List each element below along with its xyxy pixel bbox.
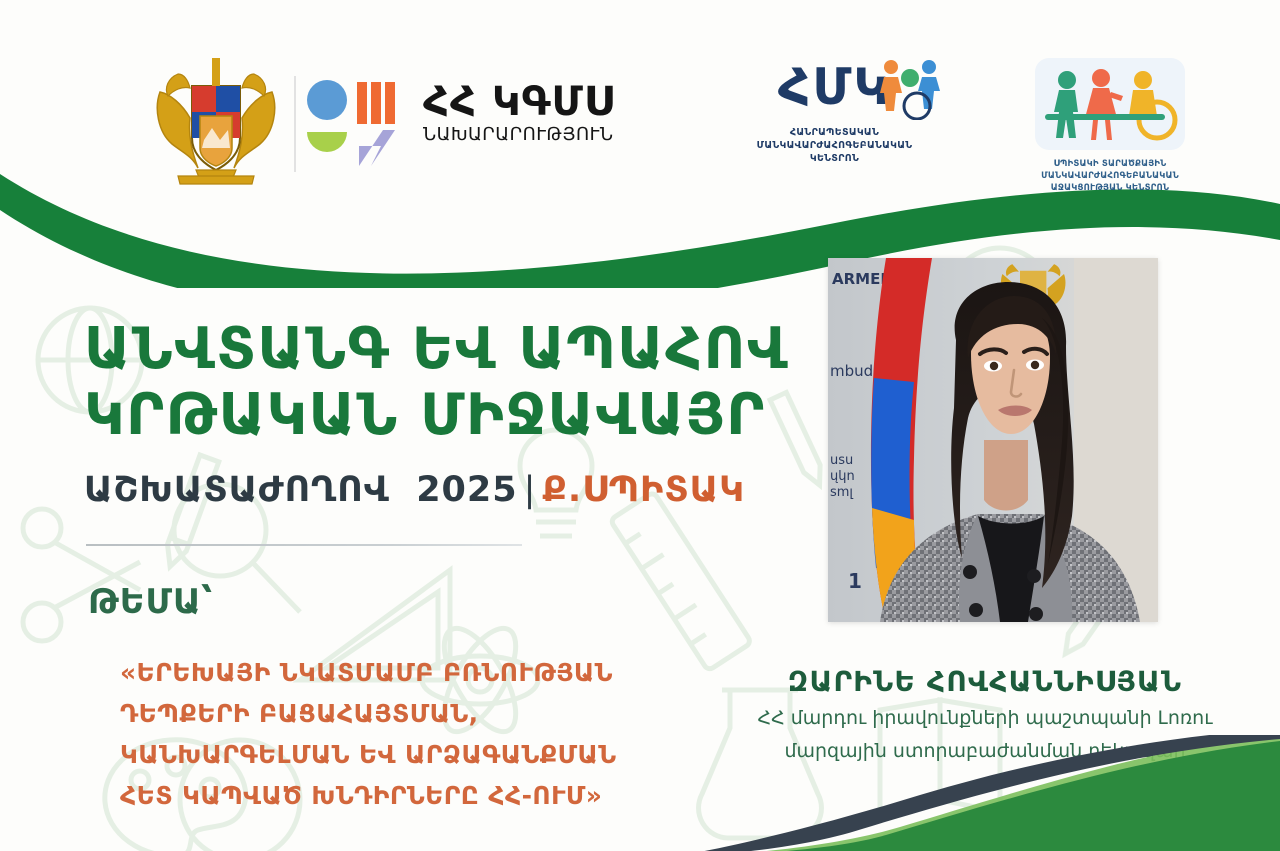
spitak-center-logo: ՍՊԻՏԱԿԻ ՏԱՐԱԾՔԱՅԻՆ ՄԱՆԿԱՎԱՐԺԱՀՈԳԵԲԱՆԱԿԱՆ… xyxy=(1010,58,1210,208)
event-year: 2025 xyxy=(416,470,517,510)
spitak-line3: ԱՋԱԿՑՈՒԹՅԱՆ ԿԵՆՏՐՈՆ xyxy=(1010,182,1210,194)
headline-block: ԱՆՎՏԱՆԳ ԵՎ ԱՊԱՀՈՎ ԿՐԹԱԿԱՆ ՄԻՋԱՎԱՅՐ xyxy=(84,316,784,448)
svg-text:smլ: smլ xyxy=(830,485,853,500)
event-city: Ք.ՍՊԻՏԱԿ xyxy=(542,470,745,510)
svg-text:ųկn: ųկn xyxy=(830,469,855,484)
speaker-role-line-1: ՀՀ մարդու իրավունքների պաշտպանի Լոռու xyxy=(700,704,1270,733)
theme-line: «ԵՐԵԽԱՅԻ ՆԿԱՏՄԱՄԲ ԲՌՆՈՒԹՅԱՆ xyxy=(120,652,720,693)
ministry-acronym: ՀՀ ԿԳՄՍ xyxy=(423,80,638,124)
event-type-label: ԱՇԽԱՏԱԺՈՂՈՎ xyxy=(84,470,390,510)
headline-line-2: ԿՐԹԱԿԱՆ ՄԻՋԱՎԱՅՐ xyxy=(84,382,784,448)
logo-divider xyxy=(294,76,296,172)
hmk-line1: ՀԱՆՐԱՊԵՏԱԿԱՆ xyxy=(722,126,947,139)
ministry-logo: ՀՀ ԿԳՄՍ ՆԱԽԱՐԱՐՈՒԹՅՈՒՆ xyxy=(305,74,635,178)
ministry-word: ՆԱԽԱՐԱՐՈՒԹՅՈՒՆ xyxy=(423,124,638,146)
speaker-portrait: ARMENI mbud usu ųկn smլ 1 xyxy=(828,258,1158,622)
poster-canvas: ՀՀ ԿԳՄՍ ՆԱԽԱՐԱՐՈՒԹՅՈՒՆ ՀՄԿ ՀԱՆՐԱՊԵՏԱԿԱՆ xyxy=(0,0,1280,851)
svg-text:usu: usu xyxy=(830,453,853,468)
hmk-acronym: ՀՄԿ xyxy=(778,58,891,116)
three-children-bench-icon xyxy=(1035,58,1185,150)
bottom-swoosh-decoration xyxy=(600,735,1280,851)
theme-label: ԹԵՄԱ՝ xyxy=(88,582,213,622)
spitak-line2: ՄԱՆԿԱՎԱՐԺԱՀՈԳԵԲԱՆԱԿԱՆ xyxy=(1010,170,1210,182)
hmk-logo: ՀՄԿ ՀԱՆՐԱՊԵՏԱԿԱՆ ՄԱՆԿԱՎԱՐԺԱՀՈԳԵԲԱՆԱԿԱՆ Կ… xyxy=(722,58,947,188)
section-divider xyxy=(86,544,522,546)
speaker-name: ԶԱՐԻՆԵ ՀՈՎՀԱՆՆԻՍՅԱՆ xyxy=(700,664,1270,700)
kgms-blocks-mark xyxy=(305,80,413,166)
subheading-line: ԱՇԽԱՏԱԺՈՂՈՎ 2025|Ք.ՍՊԻՏԱԿ xyxy=(84,470,745,510)
armenia-coat-of-arms-icon xyxy=(152,52,280,190)
people-handshake-wheelchair-icon xyxy=(879,58,941,120)
hmk-line2: ՄԱՆԿԱՎԱՐԺԱՀՈԳԵԲԱՆԱԿԱՆ xyxy=(722,139,947,152)
svg-text:mbud: mbud xyxy=(830,362,873,380)
hmk-line3: ԿԵՆՏՐՈՆ xyxy=(722,152,947,165)
headline-line-1: ԱՆՎՏԱՆԳ ԵՎ ԱՊԱՀՈՎ xyxy=(84,316,784,382)
svg-text:1: 1 xyxy=(848,569,862,593)
subheading-separator: | xyxy=(518,470,543,510)
logo-band: ՀՀ ԿԳՄՍ ՆԱԽԱՐԱՐՈՒԹՅՈՒՆ ՀՄԿ ՀԱՆՐԱՊԵՏԱԿԱՆ xyxy=(0,28,1280,188)
theme-line: ԴԵՊՔԵՐԻ ԲԱՑԱՀԱՅՏՄԱՆ, xyxy=(120,693,720,734)
spitak-line1: ՍՊԻՏԱԿԻ ՏԱՐԱԾՔԱՅԻՆ xyxy=(1010,158,1210,170)
